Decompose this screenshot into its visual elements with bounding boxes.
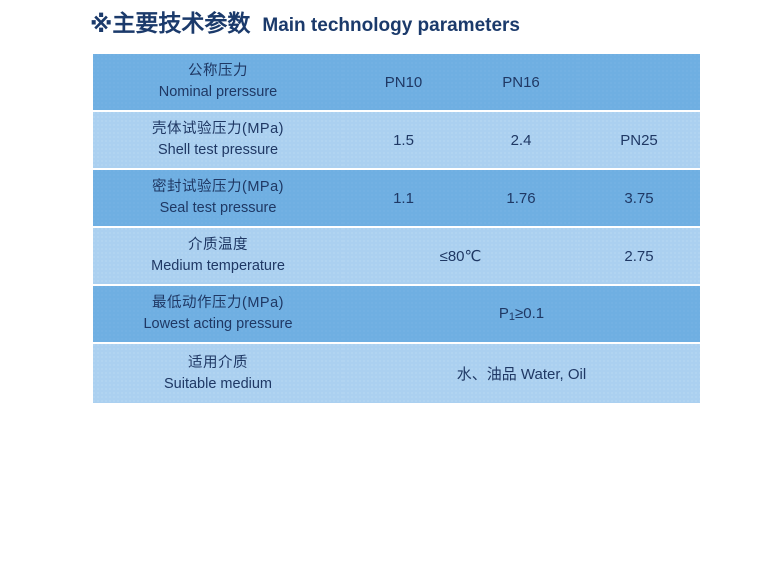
cell-medium-temperature-value: ≤80℃	[343, 227, 578, 285]
row-label-nominal-pressure: 公称压力 Nominal prerssure	[93, 54, 343, 111]
cell-row1-col4	[578, 54, 700, 111]
table-row: 公称压力 Nominal prerssure PN10 PN16	[93, 54, 700, 111]
table-row: 密封试验压力(MPa) Seal test pressure 1.1 1.76 …	[93, 169, 700, 227]
row-label-cn: 密封试验压力(MPa)	[93, 177, 343, 198]
technology-parameters-table: 公称压力 Nominal prerssure PN10 PN16 壳体试验压力(…	[93, 54, 700, 403]
row-label-en: Suitable medium	[93, 374, 343, 395]
row-label-medium-temperature: 介质温度 Medium temperature	[93, 227, 343, 285]
row-label-en: Medium temperature	[93, 256, 343, 277]
row-label-cn: 适用介质	[93, 353, 343, 374]
cell-suitable-medium-value: 水、油品 Water, Oil	[343, 343, 700, 403]
row-label-en: Lowest acting pressure	[93, 314, 343, 335]
cell-pn25: PN25	[578, 111, 700, 169]
cell-lowest-acting-pressure-value: P1≥0.1	[343, 285, 700, 343]
page-title-en: Main technology parameters	[262, 15, 520, 36]
row-label-suitable-medium: 适用介质 Suitable medium	[93, 343, 343, 403]
lowest-pressure-value: ≥0.1	[515, 305, 544, 322]
title-mark-icon: ※	[90, 11, 112, 37]
row-label-lowest-acting-pressure: 最低动作压力(MPa) Lowest acting pressure	[93, 285, 343, 343]
row-label-seal-test-pressure: 密封试验压力(MPa) Seal test pressure	[93, 169, 343, 227]
cell-shell-pn10: 1.5	[343, 111, 464, 169]
page-title-cn: 主要技术参数	[112, 10, 250, 36]
cell-shell-pn16: 2.4	[464, 111, 578, 169]
row-label-en: Seal test pressure	[93, 198, 343, 219]
page-title: ※主要技术参数Main technology parameters	[90, 12, 520, 36]
cell-pn10: PN10	[343, 54, 464, 111]
table-row: 最低动作压力(MPa) Lowest acting pressure P1≥0.…	[93, 285, 700, 343]
row-label-en: Shell test pressure	[93, 140, 343, 161]
row-label-cn: 公称压力	[93, 61, 343, 82]
cell-row4-col4: 2.75	[578, 227, 700, 285]
cell-seal-pn10: 1.1	[343, 169, 464, 227]
table-row: 介质温度 Medium temperature ≤80℃ 2.75	[93, 227, 700, 285]
cell-pn16: PN16	[464, 54, 578, 111]
row-label-cn: 介质温度	[93, 235, 343, 256]
lowest-pressure-symbol: P	[499, 305, 509, 322]
table-row: 壳体试验压力(MPa) Shell test pressure 1.5 2.4 …	[93, 111, 700, 169]
row-label-en: Nominal prerssure	[93, 82, 343, 103]
row-label-cn: 最低动作压力(MPa)	[93, 293, 343, 314]
cell-seal-pn16: 1.76	[464, 169, 578, 227]
table-row: 适用介质 Suitable medium 水、油品 Water, Oil	[93, 343, 700, 403]
cell-seal-pn25: 3.75	[578, 169, 700, 227]
row-label-shell-test-pressure: 壳体试验压力(MPa) Shell test pressure	[93, 111, 343, 169]
row-label-cn: 壳体试验压力(MPa)	[93, 119, 343, 140]
